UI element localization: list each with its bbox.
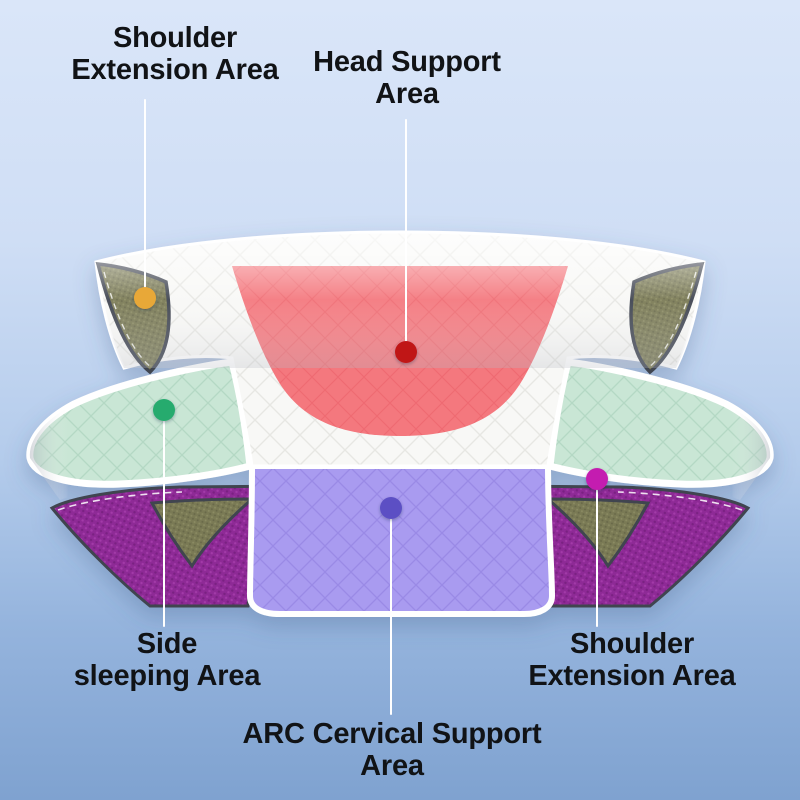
marker-dot-arc-cervical-support[interactable] — [380, 497, 402, 519]
label-shoulder-extension-right: Shoulder Extension Area — [482, 628, 782, 693]
marker-dot-head-support[interactable] — [395, 341, 417, 363]
label-head-support: Head Support Area — [262, 46, 552, 111]
label-arc-cervical-support: ARC Cervical Support Area — [222, 718, 562, 783]
diagram-canvas: Shoulder Extension Area Head Support Are… — [0, 0, 800, 800]
marker-dot-shoulder-extension-left[interactable] — [134, 287, 156, 309]
marker-dot-side-sleeping[interactable] — [153, 399, 175, 421]
arc-cervical-zone — [250, 466, 552, 614]
label-side-sleeping: Side sleeping Area — [42, 628, 292, 693]
marker-dot-shoulder-extension-right[interactable] — [586, 468, 608, 490]
